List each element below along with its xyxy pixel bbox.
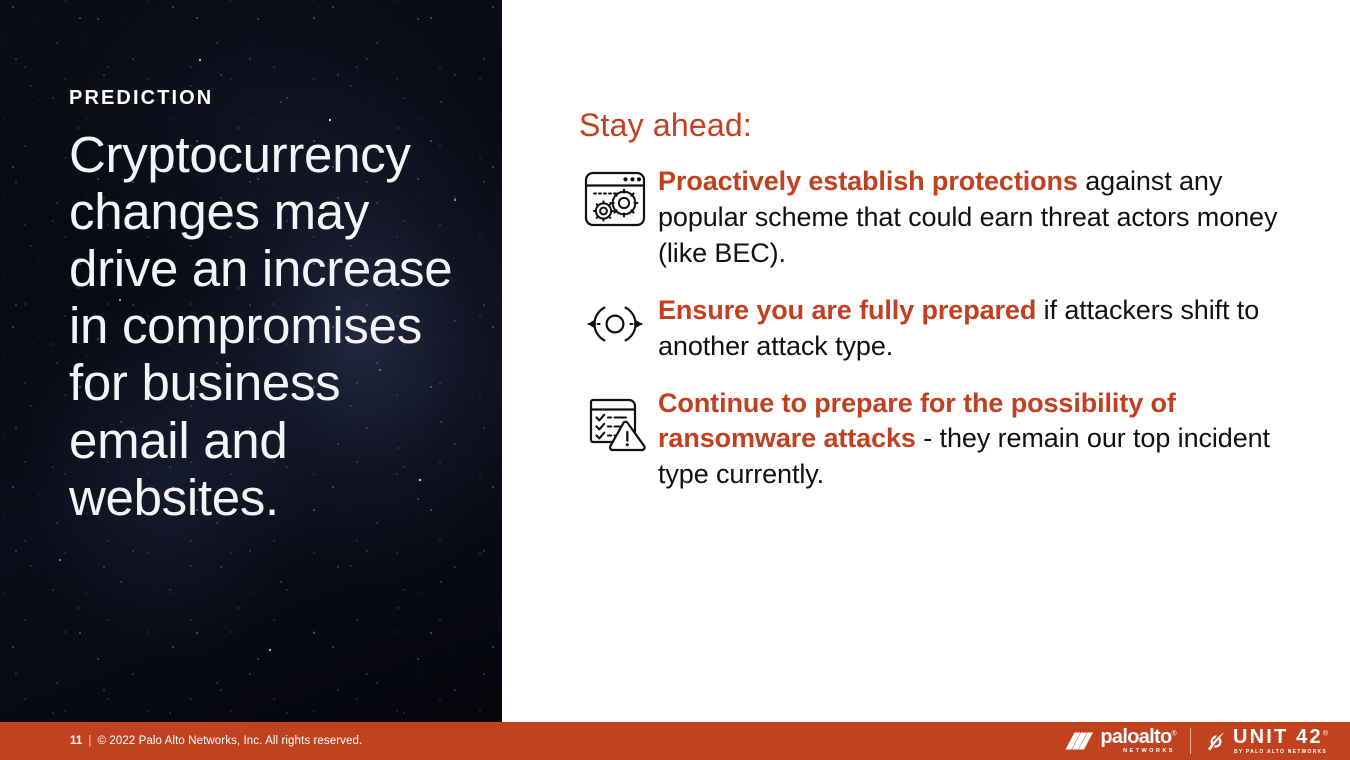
unit42-word-text: UNIT 42 [1233,726,1323,748]
copyright-text: © 2022 Palo Alto Networks, Inc. All righ… [97,735,362,747]
unit42-subtitle: BY PALO ALTO NETWORKS [1233,750,1328,755]
slide-root: PREDICTION Cryptocurrency changes may dr… [0,0,1350,760]
footer-logos: paloalto® NETWORKS UNIT 42® BY PALO ALTO… [1065,727,1328,755]
paloalto-word-text: paloalto [1100,726,1171,748]
browser-gears-icon [572,164,658,228]
list-item-text: Ensure you are fully prepared if attacke… [658,293,1312,365]
paloalto-word: paloalto® [1100,727,1176,747]
paloalto-subtitle: NETWORKS [1100,749,1176,755]
hero-text-block: PREDICTION Cryptocurrency changes may dr… [69,86,469,526]
list-item: Proactively establish protections agains… [572,164,1312,272]
right-content-panel: Stay ahead: [502,0,1350,722]
target-arrows-icon [572,293,658,349]
unit42-wordmark: UNIT 42® BY PALO ALTO NETWORKS [1233,727,1328,755]
paloalto-mark-icon [1065,731,1093,751]
logo-divider [1190,728,1191,754]
checklist-warning-icon [572,386,658,452]
list-item: Continue to prepare for the possibility … [572,386,1312,494]
list-item-text: Proactively establish protections agains… [658,164,1312,272]
left-hero-panel: PREDICTION Cryptocurrency changes may dr… [0,0,502,722]
recommendation-list: Proactively establish protections agains… [572,164,1312,514]
footer-bar: 11 | © 2022 Palo Alto Networks, Inc. All… [0,722,1350,760]
footer-separator: | [88,735,91,747]
unit42-logo: UNIT 42® BY PALO ALTO NETWORKS [1205,727,1328,755]
list-item-lead: Ensure you are fully prepared [658,295,1036,325]
list-item: Ensure you are fully prepared if attacke… [572,293,1312,365]
list-item-text: Continue to prepare for the possibility … [658,386,1312,494]
prediction-kicker: PREDICTION [69,86,469,110]
list-item-lead: Proactively establish protections [658,166,1078,196]
page-number: 11 [70,735,82,747]
section-heading: Stay ahead: [579,107,752,144]
unit42-trademark: ® [1323,730,1328,737]
paloalto-trademark: ® [1171,731,1175,738]
footer-copyright-block: 11 | © 2022 Palo Alto Networks, Inc. All… [70,735,362,747]
paloalto-logo: paloalto® NETWORKS [1065,727,1176,755]
paloalto-wordmark: paloalto® NETWORKS [1100,727,1176,755]
unit42-word: UNIT 42® [1233,727,1328,747]
page-title: Cryptocurrency changes may drive an incr… [69,126,461,526]
unit42-swoosh-icon [1205,730,1227,752]
